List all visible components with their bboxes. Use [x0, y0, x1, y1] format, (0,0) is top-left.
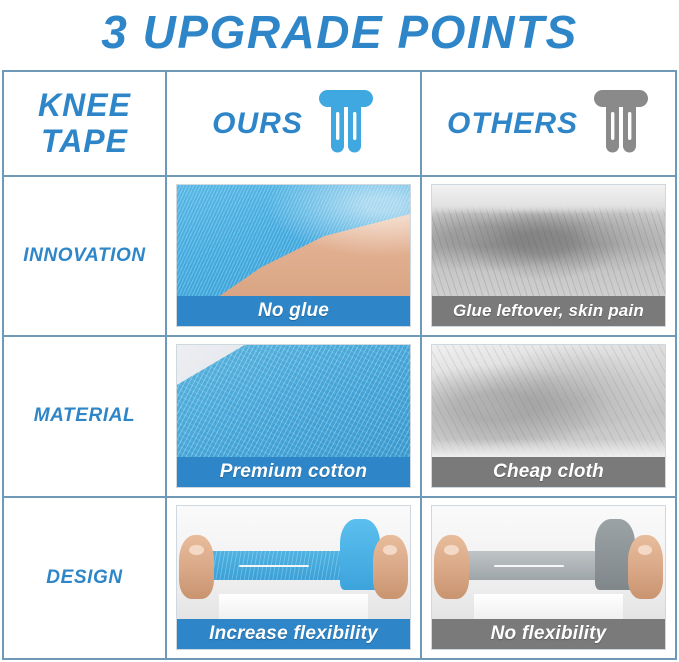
caption-innovation-others: Glue leftover, skin pain	[432, 296, 665, 326]
photo-frame: Glue leftover, skin pain	[431, 184, 666, 327]
caption-innovation-ours: No glue	[177, 296, 410, 326]
hand-left	[434, 535, 469, 598]
blue-tape-on-skin-photo	[177, 185, 410, 296]
thumbnail	[638, 545, 653, 555]
photo-frame: Cheap cloth	[431, 344, 666, 487]
tape-slit	[239, 565, 309, 567]
comparison-infographic: 3 UPGRADE POINTS KNEE TAPE OURS OTHERS	[0, 0, 679, 662]
knee-tape-icon	[592, 88, 650, 160]
column-header-others: OTHERS	[422, 72, 675, 177]
hand-left	[179, 535, 214, 598]
photo-frame: No glue	[176, 184, 411, 327]
grayscale-knee-glue-residue-photo	[432, 185, 665, 296]
caption-material-others: Cheap cloth	[432, 457, 665, 487]
hand-right	[628, 535, 663, 598]
hands-stretching-blue-tape-photo	[177, 506, 410, 619]
row-label-text: MATERIAL	[34, 405, 136, 427]
cell-design-ours: Increase flexibility	[167, 498, 422, 658]
table-corner-header: KNEE TAPE	[4, 72, 167, 177]
corner-header-line1: KNEE	[38, 88, 131, 124]
hands-holding-gray-tape-photo	[432, 506, 665, 619]
caption-design-ours: Increase flexibility	[177, 619, 410, 649]
corner-header-line2: TAPE	[41, 124, 128, 160]
row-label-material: MATERIAL	[4, 337, 167, 497]
others-label: OTHERS	[447, 107, 578, 141]
row-label-text: INNOVATION	[23, 245, 145, 267]
row-label-text: DESIGN	[46, 567, 122, 589]
cell-material-others: Cheap cloth	[422, 337, 675, 497]
thumbnail	[444, 545, 459, 555]
knee-tape-icon	[317, 88, 375, 160]
grayscale-cheap-cloth-closeup-photo	[432, 345, 665, 456]
row-label-innovation: INNOVATION	[4, 177, 167, 337]
comparison-table: KNEE TAPE OURS OTHERS	[2, 70, 677, 660]
caption-material-ours: Premium cotton	[177, 457, 410, 487]
page-title: 3 UPGRADE POINTS	[0, 0, 679, 68]
photo-frame: Increase flexibility	[176, 505, 411, 650]
background-surface	[474, 594, 623, 619]
thumbnail	[189, 545, 204, 555]
column-header-ours: OURS	[167, 72, 422, 177]
blue-cotton-fabric-closeup-photo	[177, 345, 410, 456]
photo-frame: Premium cotton	[176, 344, 411, 487]
cell-innovation-others: Glue leftover, skin pain	[422, 177, 675, 337]
ours-label: OURS	[212, 107, 303, 141]
tape-slit	[494, 565, 564, 567]
caption-design-others: No flexibility	[432, 619, 665, 649]
thumbnail	[383, 545, 398, 555]
hand-right	[373, 535, 408, 598]
photo-frame: No flexibility	[431, 505, 666, 650]
cell-design-others: No flexibility	[422, 498, 675, 658]
cell-innovation-ours: No glue	[167, 177, 422, 337]
background-surface	[219, 594, 368, 619]
row-label-design: DESIGN	[4, 498, 167, 658]
cell-material-ours: Premium cotton	[167, 337, 422, 497]
